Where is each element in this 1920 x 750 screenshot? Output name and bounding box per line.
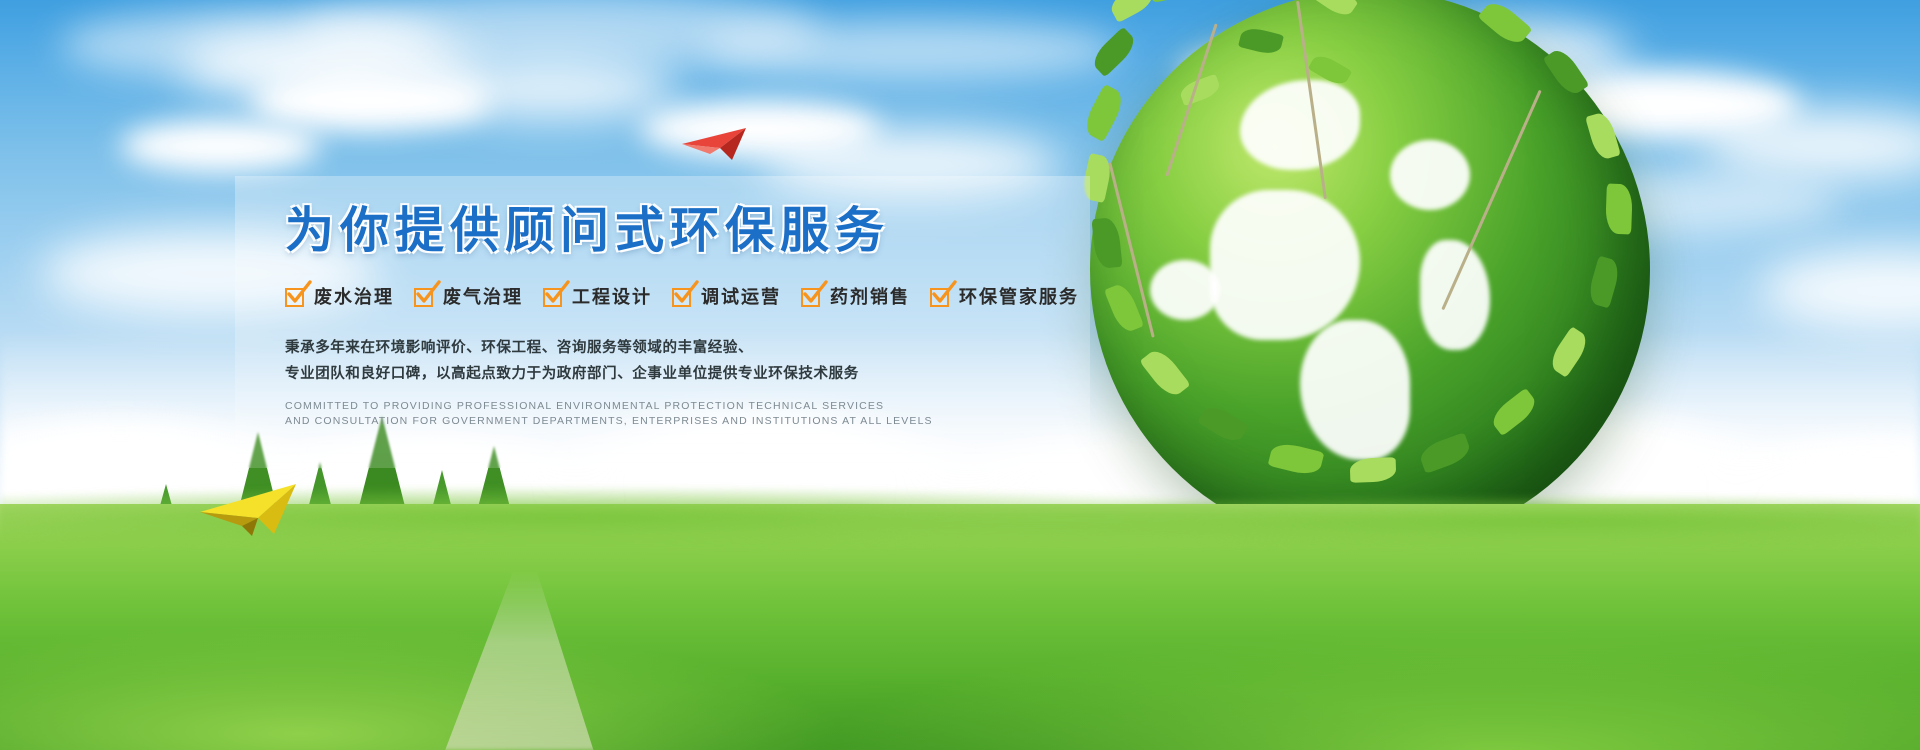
checkbox-checked-icon	[543, 286, 564, 307]
description-paragraph: 秉承多年来在环境影响评价、环保工程、咨询服务等领域的丰富经验、 专业团队和良好口…	[285, 335, 1105, 387]
english-line: AND CONSULTATION FOR GOVERNMENT DEPARTME…	[285, 414, 1105, 429]
yellow-paper-plane	[196, 478, 306, 547]
english-subtitle: COMMITTED TO PROVIDING PROFESSIONAL ENVI…	[285, 399, 1105, 429]
checkbox-checked-icon	[930, 286, 951, 307]
feature-list: 废水治理 废气治理 工程设计	[285, 283, 1105, 309]
feature-item-engineering-design[interactable]: 工程设计	[543, 283, 652, 309]
feature-item-waste-gas[interactable]: 废气治理	[414, 283, 523, 309]
english-line: COMMITTED TO PROVIDING PROFESSIONAL ENVI…	[285, 399, 1105, 414]
checkbox-checked-icon	[414, 286, 435, 307]
feature-label: 工程设计	[572, 283, 652, 309]
page-title: 为你提供顾问式环保服务	[285, 206, 1105, 257]
feature-item-chemical-sales[interactable]: 药剂销售	[801, 283, 910, 309]
feature-label: 环保管家服务	[959, 283, 1079, 309]
description-line: 专业团队和良好口碑，以高起点致力于为政府部门、企事业单位提供专业环保技术服务	[285, 361, 1105, 387]
checkbox-checked-icon	[801, 286, 822, 307]
feature-label: 调试运营	[701, 283, 781, 309]
red-paper-plane	[680, 126, 750, 171]
feature-item-wastewater[interactable]: 废水治理	[285, 283, 394, 309]
environmental-services-banner: 为你提供顾问式环保服务 废水治理 废气治理	[0, 0, 1920, 750]
description-line: 秉承多年来在环境影响评价、环保工程、咨询服务等领域的丰富经验、	[285, 335, 1105, 361]
feature-label: 废水治理	[314, 283, 394, 309]
checkbox-checked-icon	[672, 286, 693, 307]
feature-item-commissioning[interactable]: 调试运营	[672, 283, 781, 309]
hill-shading	[0, 590, 1920, 750]
feature-label: 药剂销售	[830, 283, 910, 309]
feature-item-eco-butler-service[interactable]: 环保管家服务	[930, 283, 1079, 309]
feature-label: 废气治理	[443, 283, 523, 309]
banner-content: 为你提供顾问式环保服务 废水治理 废气治理	[285, 206, 1105, 429]
checkbox-checked-icon	[285, 286, 306, 307]
